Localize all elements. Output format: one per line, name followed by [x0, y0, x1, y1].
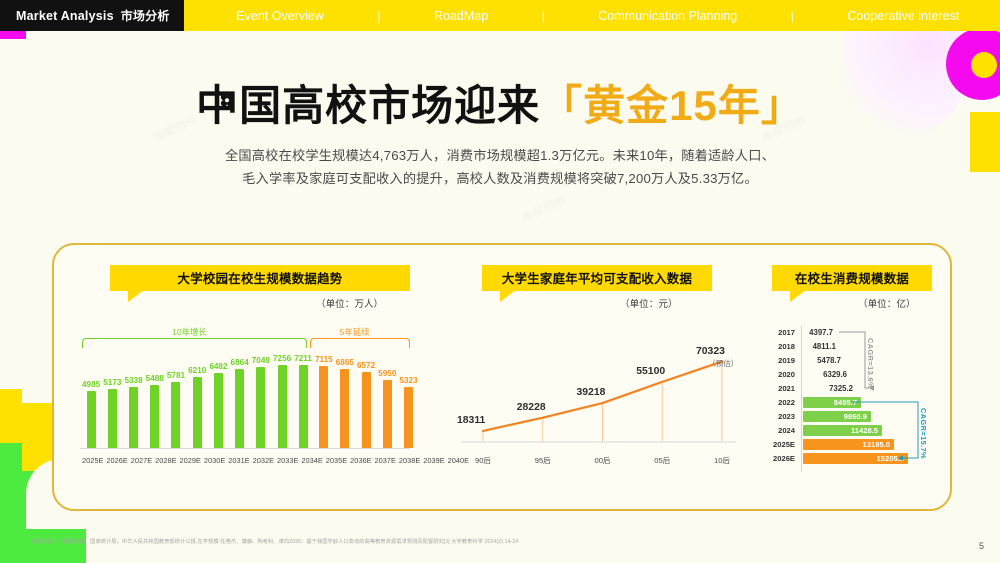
headline-section: 中国高校市场迎来「黄金15年」 全国高校在校学生规模达4,763万人，消费市场规… — [0, 82, 1000, 190]
nav-item-market-analysis[interactable]: Market Analysis 市场分析 — [0, 0, 184, 31]
chart-1-x-label: 2035E — [326, 456, 347, 465]
chart-3-title: 在校生消费规模数据 — [795, 269, 909, 287]
chart-3-row: 20206329.6 — [770, 368, 930, 380]
chart-1-bar-value: 6864 — [231, 358, 249, 367]
chart-1-bar — [340, 369, 349, 448]
subtitle-line-1: 全国高校在校学生规模达4,763万人，消费市场规模超1.3万亿元。未来10年，随… — [0, 144, 1000, 167]
chart-1-x-label: 2032E — [253, 456, 274, 465]
flower-icon — [218, 92, 236, 110]
chart-2-unit: （单位：元） — [620, 296, 678, 310]
chart-1-bar-value: 7115 — [315, 355, 333, 364]
chart-1-bar — [383, 380, 392, 448]
chart-1-bar-column: 6482 — [209, 362, 227, 448]
chart-3-year-label: 2019 — [770, 356, 800, 365]
nav-item-label-cn: 市场分析 — [121, 7, 170, 24]
chart-3-year-label: 2024 — [770, 426, 800, 435]
chart-1-axis — [80, 448, 410, 449]
chart-2-point-value: 70323 — [696, 346, 725, 357]
chart-1-bar-value: 7211 — [294, 354, 312, 363]
chart-1-bar-column: 6865 — [336, 358, 354, 448]
chart-2-point-value: 28228 — [517, 402, 546, 413]
chart-2-x-label: 05后 — [654, 455, 670, 466]
chart-1-bar-value: 7049 — [252, 356, 270, 365]
bracket-close: 」 — [761, 82, 804, 129]
chart-1-bar-column: 7115 — [315, 355, 333, 448]
chart-2-x-label: 95后 — [535, 455, 551, 466]
chart-1-bar-value: 5323 — [399, 376, 417, 385]
chart-3-year-label: 2025E — [770, 440, 800, 449]
chart-2-x-label: 90后 — [475, 455, 491, 466]
chart-1-bar — [299, 365, 308, 448]
chart-2-line-chart: 1831190后2822895后3921800后5510005后70323（预估… — [455, 320, 740, 470]
chart-3-row: 20184811.1 — [770, 340, 930, 352]
chart-2-point-value: 39218 — [577, 387, 606, 398]
chart-2-x-label: 00后 — [594, 455, 610, 466]
subtitle-line-2: 毛入学率及家庭可支配收入的提升，高校人数及消费规模将突破7,200万人及5.33… — [0, 167, 1000, 190]
chart-1-unit: （单位：万人） — [316, 296, 383, 310]
chart-3-row: 20239860.9 — [770, 410, 930, 422]
chart-2-point-value: 18311 — [457, 415, 485, 426]
chart-1-bar-column: 7049 — [252, 356, 270, 448]
chart-1-bar-value: 5173 — [103, 378, 121, 387]
chart-3-unit: （单位：亿） — [858, 296, 916, 310]
chart-3-cagr-label-0: CAGR=13.6% — [866, 338, 875, 389]
chart-1-bar-chart: 10年增长 5年延续 49855173533854885781621064826… — [80, 320, 410, 470]
chart-1-x-label: 2036E — [350, 456, 371, 465]
chart-1-bar — [404, 387, 413, 448]
chart-1-bar — [129, 387, 138, 448]
chart-2-point-value: 55100 — [636, 366, 665, 377]
chart-3-row: 20195478.7 — [770, 354, 930, 366]
chart-1-x-label: 2026E — [106, 456, 127, 465]
top-navigation-bar: Market Analysis 市场分析 Event Overview | Ro… — [0, 0, 1000, 31]
source-footnote: 数据来源：中国经济网、国家统计局；中华人民共和国教育部统计公报,在学规模-任艳杰… — [32, 539, 792, 547]
chart-3-cagr-label-1: CAGR=15.7% — [919, 408, 928, 459]
chart-1-bar-value: 6572 — [357, 361, 375, 370]
nav-item-communication-planning[interactable]: Communication Planning — [598, 9, 737, 23]
chart-1-x-label: 2028E — [155, 456, 176, 465]
nav-separator: | — [542, 9, 545, 23]
chart-3-row: 20174397.7 — [770, 326, 930, 338]
chart-1-x-label: 2030E — [204, 456, 225, 465]
chart-3-value: 5478.7 — [803, 356, 841, 365]
chart-1-bar — [108, 389, 117, 448]
chart-3-value: 4397.7 — [803, 328, 833, 337]
chart-3-row: 2025E13195.0 — [770, 438, 930, 450]
chart-1-bars: 4985517353385488578162106482686470497256… — [80, 342, 410, 448]
chart-1-bar-column: 5488 — [146, 374, 164, 448]
chart-3-year-label: 2022 — [770, 398, 800, 407]
chart-1-bar-column: 6864 — [231, 358, 249, 448]
chart-1-x-labels: 2025E2026E2027E2028E2029E2030E2031E2032E… — [80, 456, 410, 465]
chart-3-title-banner: 在校生消费规模数据 — [772, 265, 932, 291]
chart-1-bar — [362, 372, 371, 448]
chart-1-x-label: 2031E — [228, 456, 249, 465]
chart-1-x-label: 2037E — [375, 456, 396, 465]
chart-1-bar-value: 5488 — [146, 374, 164, 383]
nav-item-cooperative-interest[interactable]: Cooperative interest — [847, 9, 959, 23]
chart-1-x-label: 2027E — [131, 456, 152, 465]
chart-1-bar — [193, 377, 202, 448]
chart-1-title-banner: 大学校园在校生规模数据趋势 — [110, 265, 410, 291]
chart-1-x-label: 2029E — [180, 456, 201, 465]
chart-1-annotation-label-1: 5年延续 — [340, 326, 370, 338]
chart-3-horizontal-bar-chart: 20174397.720184811.120195478.720206329.6… — [770, 326, 930, 472]
nav-separator: | — [377, 9, 380, 23]
chart-2-x-label: 10后 — [714, 455, 730, 466]
chart-1-bar — [278, 365, 287, 448]
chart-1-bar-column: 6572 — [357, 361, 375, 448]
chart-1-bar-value: 5950 — [378, 369, 396, 378]
chart-3-row: 202411428.5 — [770, 424, 930, 436]
chart-2-point-note: （预估） — [708, 358, 738, 369]
chart-3-row: 20228495.7 — [770, 396, 930, 408]
chart-1-bar — [87, 391, 96, 448]
page-title: 中国高校市场迎来「黄金15年」 — [0, 82, 1000, 130]
nav-item-roadmap[interactable]: RoadMap — [434, 9, 488, 23]
chart-1-x-label: 2025E — [82, 456, 103, 465]
chart-1-x-label: 2038E — [399, 456, 420, 465]
chart-3-value: 7325.2 — [803, 384, 853, 393]
chart-1-bar-value: 4985 — [82, 380, 100, 389]
chart-3-bar: 9860.9 — [803, 411, 871, 422]
chart-3-year-label: 2017 — [770, 328, 800, 337]
chart-1-annotation-label-0: 10年增长 — [172, 326, 206, 338]
chart-3-bar: 15205.1 — [803, 453, 908, 464]
page-subtitle: 全国高校在校学生规模达4,763万人，消费市场规模超1.3万亿元。未来10年，随… — [0, 144, 1000, 190]
chart-2-title-banner: 大学生家庭年平均可支配收入数据 — [482, 265, 712, 291]
nav-item-label-en: Market Analysis — [16, 9, 114, 23]
chart-3-year-label: 2018 — [770, 342, 800, 351]
chart-1-bar-column: 6210 — [188, 366, 206, 448]
chart-1-x-label: 2039E — [423, 456, 444, 465]
chart-3-row: 2026E15205.1 — [770, 452, 930, 464]
chart-3-bar: 11428.5 — [803, 425, 882, 436]
nav-items-group: Event Overview | RoadMap | Communication… — [184, 9, 1000, 23]
chart-1-bar-column: 7256 — [273, 354, 291, 448]
nav-item-event-overview[interactable]: Event Overview — [236, 9, 324, 23]
chart-1-bar-column: 4985 — [82, 380, 100, 448]
chart-1-bar-value: 7256 — [273, 354, 291, 363]
chart-3-bar: 8495.7 — [803, 397, 861, 408]
chart-3-bar: 13195.0 — [803, 439, 894, 450]
chart-1-bar-value: 6865 — [336, 358, 354, 367]
chart-1-bar-value: 6482 — [209, 362, 227, 371]
chart-2-title: 大学生家庭年平均可支配收入数据 — [502, 269, 692, 287]
chart-1-bar-column: 5173 — [103, 378, 121, 448]
chart-1-bar-column: 5950 — [378, 369, 396, 448]
chart-1-x-label: 2034E — [301, 456, 322, 465]
chart-3-year-label: 2026E — [770, 454, 800, 463]
nav-separator: | — [791, 9, 794, 23]
chart-1-bar — [319, 366, 328, 448]
chart-3-value: 6329.6 — [803, 370, 847, 379]
pink-accent-strip — [0, 31, 26, 39]
bracket-open: 「 — [540, 82, 583, 129]
pink-circle-hole — [971, 52, 997, 78]
chart-1-x-label: 2033E — [277, 456, 298, 465]
chart-3-value: 4811.1 — [803, 342, 836, 351]
chart-1-bar-column: 5781 — [167, 371, 185, 448]
chart-1-bar-value: 6210 — [188, 366, 206, 375]
chart-1-bar — [171, 382, 180, 448]
chart-3-row: 20217325.2 — [770, 382, 930, 394]
chart-1-bar — [256, 367, 265, 448]
chart-1-bar-column: 5323 — [399, 376, 417, 448]
yellow-strip-bottom-left — [0, 389, 22, 443]
chart-1-title: 大学校园在校生规模数据趋势 — [178, 269, 343, 287]
page-title-main: 中国高校市场迎来 — [196, 82, 540, 129]
chart-1-bar-value: 5338 — [124, 376, 142, 385]
chart-3-year-label: 2021 — [770, 384, 800, 393]
chart-1-bar — [150, 385, 159, 448]
page-title-highlight: 黄金15年 — [583, 82, 761, 129]
chart-3-year-label: 2023 — [770, 412, 800, 421]
page-number: 5 — [979, 541, 984, 551]
chart-3-year-label: 2020 — [770, 370, 800, 379]
chart-1-bar-value: 5781 — [167, 371, 185, 380]
chart-1-bar-column: 7211 — [294, 354, 312, 448]
chart-1-bar — [214, 373, 223, 448]
chart-1-bar — [235, 369, 244, 448]
chart-1-bar-column: 5338 — [124, 376, 142, 448]
